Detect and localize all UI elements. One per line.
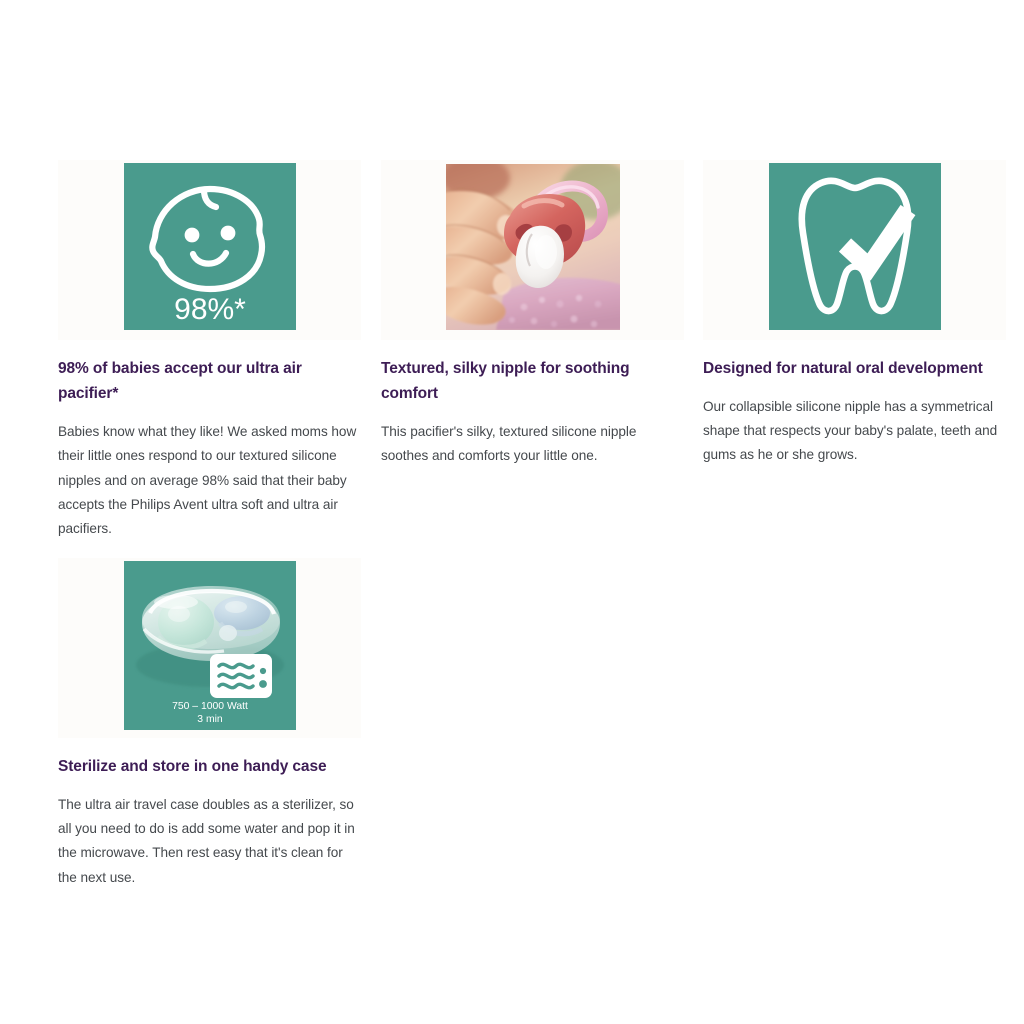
microwave-caption-watt: 750 – 1000 Watt: [172, 701, 248, 712]
feature-body: The ultra air travel case doubles as a s…: [58, 793, 361, 890]
microwave-caption-time: 3 min: [197, 714, 223, 725]
media-frame: [769, 163, 941, 330]
feature-media: [703, 160, 1006, 340]
baby-smile: [193, 253, 226, 264]
feature-media: [381, 160, 684, 340]
feature-grid: 98%* 98% of babies accept our ultra air …: [0, 0, 1024, 1024]
feature-heading: Designed for natural oral development: [703, 356, 1003, 381]
microwave-badge: [210, 654, 272, 698]
media-frame: [446, 164, 620, 330]
product-feature-page: 98%* 98% of babies accept our ultra air …: [0, 0, 1024, 1024]
feature-media: 98%*: [58, 160, 361, 340]
media-frame: 750 – 1000 Watt 3 min: [124, 561, 296, 730]
tooth-check-icon: [769, 163, 941, 330]
feature-heading: 98% of babies accept our ultra air pacif…: [58, 356, 358, 406]
pacifier-in-hand-photo: [446, 164, 620, 330]
baby-right-eye: [221, 226, 236, 241]
feature-heading: Sterilize and store in one handy case: [58, 754, 358, 779]
feature-body: This pacifier's silky, textured silicone…: [381, 420, 677, 468]
baby-face-icon: 98%*: [124, 163, 296, 330]
feature-card-babies-accept: 98%* 98% of babies accept our ultra air …: [58, 160, 361, 541]
feature-card-sterilize-case: 750 – 1000 Watt 3 min Sterilize and stor…: [58, 558, 361, 890]
baby-left-eye: [185, 228, 200, 243]
media-frame: 98%*: [124, 163, 296, 330]
teal-tile: 750 – 1000 Watt 3 min: [124, 561, 296, 730]
feature-card-textured-nipple: Textured, silky nipple for soothing comf…: [381, 160, 684, 469]
pacifier-case-photo: 750 – 1000 Watt 3 min: [124, 561, 296, 730]
tile-percent-label: 98%*: [174, 293, 246, 326]
teal-tile: [769, 163, 941, 330]
feature-card-oral-development: Designed for natural oral development Ou…: [703, 160, 1006, 468]
check-mark: [845, 210, 908, 267]
feature-heading: Textured, silky nipple for soothing comf…: [381, 356, 681, 406]
feature-media: 750 – 1000 Watt 3 min: [58, 558, 361, 738]
feature-body: Babies know what they like! We asked mom…: [58, 420, 361, 541]
feature-body: Our collapsible silicone nipple has a sy…: [703, 395, 1003, 468]
teal-tile: 98%*: [124, 163, 296, 330]
